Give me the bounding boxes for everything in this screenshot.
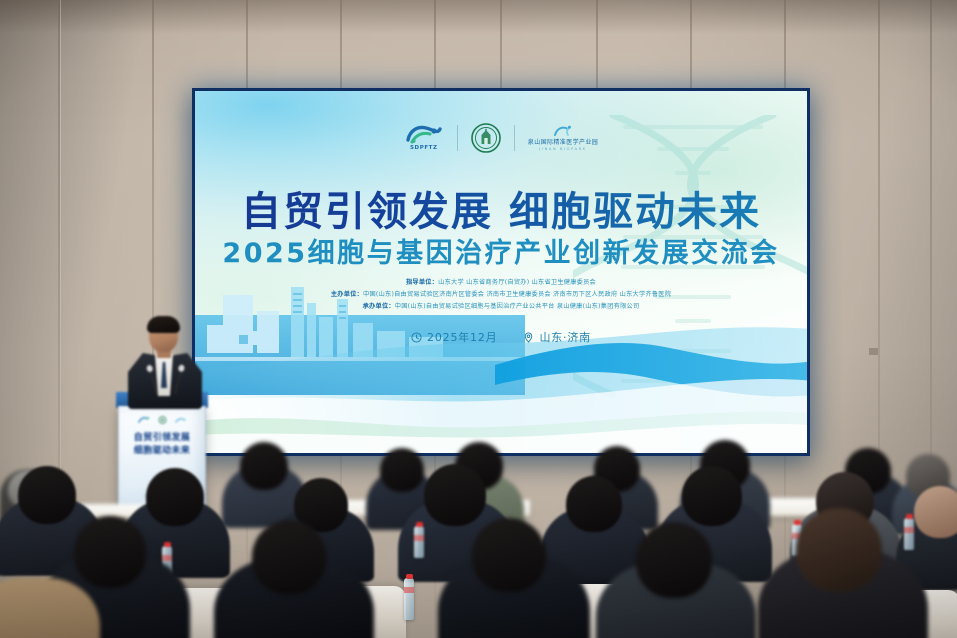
speaker-person (122, 318, 208, 404)
shandong-university-seal (458, 123, 514, 153)
wave-decoration (195, 303, 810, 453)
sdpftz-mark-icon (404, 124, 444, 145)
speaker-hair (147, 316, 180, 333)
attendee-head (74, 516, 146, 588)
bottle-label (904, 527, 914, 533)
bottle-cap (416, 522, 423, 527)
podium-sdpftz-icon (138, 416, 151, 424)
jinan-biopark-logo: 泉山国际精准医学产业园 JINAN BIOPARK (515, 124, 611, 151)
bottle-cap (406, 574, 413, 579)
biopark-mark-icon (552, 124, 574, 138)
organizer-label: 指导单位： (406, 279, 438, 286)
bottle-label (404, 587, 414, 593)
event-date-text: 2025年12月 (427, 329, 497, 345)
attendee-head (240, 442, 288, 490)
attendee-head (566, 476, 622, 532)
sdpftz-logo: SDPFTZ (391, 124, 457, 152)
led-presentation-screen: SDPFTZ (192, 88, 810, 456)
bottle-cap (794, 520, 801, 525)
organizer-line: 承办单位：中国(山东)自由贸易试验区细胞与基因治疗产业公共平台 泉山健康(山东)… (195, 301, 807, 310)
attendee-head (380, 448, 424, 492)
attendee-head (636, 522, 712, 598)
organizer-value: 中国(山东)自由贸易试验区细胞与基因治疗产业公共平台 泉山健康(山东)集团有限公… (395, 303, 640, 310)
biopark-name-en: JINAN BIOPARK (539, 148, 587, 152)
water-bottle (414, 526, 424, 558)
attendee-head (472, 518, 546, 592)
podium-logo-row (119, 416, 205, 424)
podium-biopark-icon (174, 416, 187, 424)
clock-icon (411, 332, 422, 343)
bottle-label (162, 555, 172, 561)
sdpftz-tagline: SDPFTZ (410, 146, 438, 152)
organizer-value: 山东大学 山东省商务厅(自贸办) 山东省卫生健康委员会 (438, 279, 596, 286)
location-pin-icon (523, 332, 534, 343)
attendee-head (146, 468, 204, 526)
water-bottle (904, 518, 914, 550)
event-main-title: 自贸引领发展 细胞驱动未来 (195, 179, 807, 237)
sponsor-logo-row: SDPFTZ (195, 123, 807, 153)
podium-seal-icon (156, 416, 169, 424)
organizer-block: 指导单位：山东大学 山东省商务厅(自贸办) 山东省卫生健康委员会 主办单位：中国… (195, 277, 807, 314)
event-subtitle: 2025细胞与基因治疗产业创新发展交流会 (195, 231, 807, 270)
event-meta-row: 2025年12月 山东·济南 (195, 329, 807, 345)
organizer-label: 承办单位： (363, 303, 395, 310)
attendee-head (18, 466, 76, 524)
university-seal-icon (471, 123, 501, 153)
organizer-line: 主办单位：中国(山东)自由贸易试验区济南片区管委会 济南市卫生健康委员会 济南市… (195, 289, 807, 298)
attendee-head (682, 466, 742, 526)
event-location: 山东·济南 (523, 329, 591, 345)
ceiling-shadow (0, 0, 957, 34)
bottle-label (414, 535, 424, 541)
event-date: 2025年12月 (411, 329, 497, 345)
water-bottle (404, 578, 414, 620)
attendee-head (252, 520, 326, 594)
conference-photo-scene: SDPFTZ (0, 0, 957, 638)
organizer-label: 主办单位： (331, 291, 363, 298)
organizer-value: 中国(山东)自由贸易试验区济南片区管委会 济南市卫生健康委员会 济南市历下区人民… (363, 291, 671, 298)
organizer-line: 指导单位：山东大学 山东省商务厅(自贸办) 山东省卫生健康委员会 (195, 277, 807, 286)
bottle-cap (906, 514, 913, 519)
audience-seating (0, 438, 957, 638)
attendee-head (914, 486, 957, 538)
wall-fixture (869, 348, 878, 355)
attendee-head (424, 464, 486, 526)
biopark-name-cn: 泉山国际精准医学产业园 (528, 140, 598, 146)
bottle-cap (164, 542, 171, 547)
attendee-head (796, 508, 882, 592)
event-location-text: 山东·济南 (539, 329, 591, 345)
